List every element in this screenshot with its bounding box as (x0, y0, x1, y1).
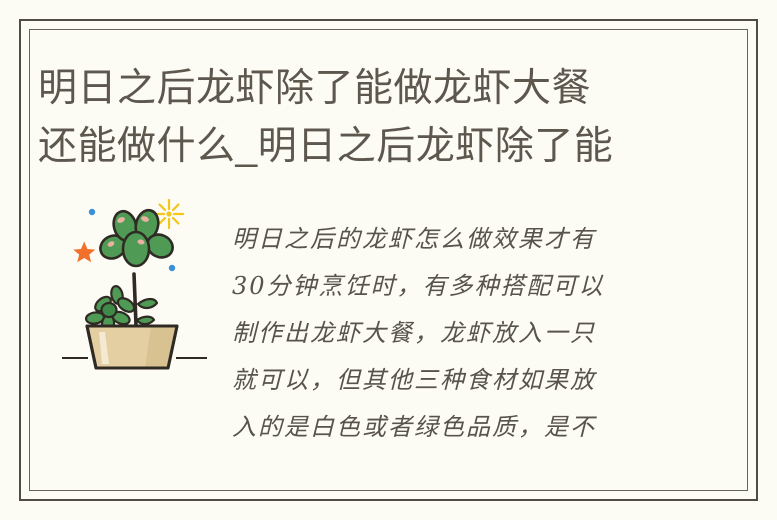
title-line-2: 还能做什么_明日之后龙虾除了能 (38, 118, 738, 176)
body-line-3: 制作出龙虾大餐，龙虾放入一只 (232, 310, 662, 357)
body-line-1: 明日之后的龙虾怎么做效果才有 (232, 216, 662, 263)
orange-star-icon (73, 242, 95, 263)
article-body: 明日之后的龙虾怎么做效果才有 30分钟烹饪时，有多种搭配可以 制作出龙虾大餐，龙… (232, 216, 662, 451)
stem-leaflet-2 (137, 317, 154, 325)
body-line-2: 30分钟烹饪时，有多种搭配可以 (232, 263, 662, 310)
potted-plant-illustration (55, 192, 220, 372)
plant-flower-head (96, 208, 176, 266)
stem-leaflet (138, 299, 157, 308)
body-line-5: 入的是白色或者绿色品质，是不 (232, 404, 662, 451)
title-line-1: 明日之后龙虾除了能做龙虾大餐 (38, 60, 738, 118)
body-line-4: 就可以，但其他三种食材如果放 (232, 357, 662, 404)
blue-dot-icon (89, 209, 95, 215)
blue-dot-small-icon (169, 265, 175, 271)
article-card: 明日之后龙虾除了能做龙虾大餐 还能做什么_明日之后龙虾除了能 (0, 0, 777, 520)
page-title: 明日之后龙虾除了能做龙虾大餐 还能做什么_明日之后龙虾除了能 (38, 60, 738, 176)
